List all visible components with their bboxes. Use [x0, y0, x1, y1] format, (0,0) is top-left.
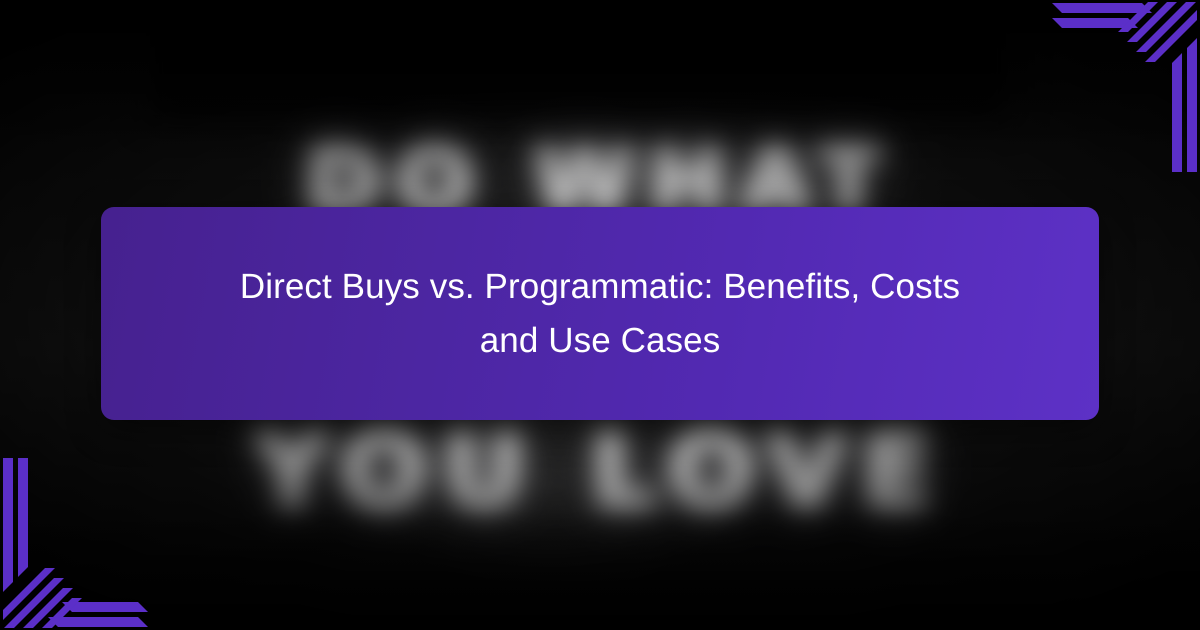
- corner-bracket-bl-icon: [0, 454, 176, 630]
- corner-bracket-top-right: [1024, 0, 1200, 176]
- og-image-canvas: DO WHAT YOU LOVE: [0, 0, 1200, 630]
- background-bottom-fade: [0, 510, 1200, 630]
- title-card: Direct Buys vs. Programmatic: Benefits, …: [101, 207, 1099, 420]
- background-top-fade: [0, 0, 1200, 150]
- corner-bracket-bottom-left: [0, 454, 176, 630]
- corner-bracket-tr-icon: [1024, 0, 1200, 176]
- page-title: Direct Buys vs. Programmatic: Benefits, …: [210, 260, 990, 368]
